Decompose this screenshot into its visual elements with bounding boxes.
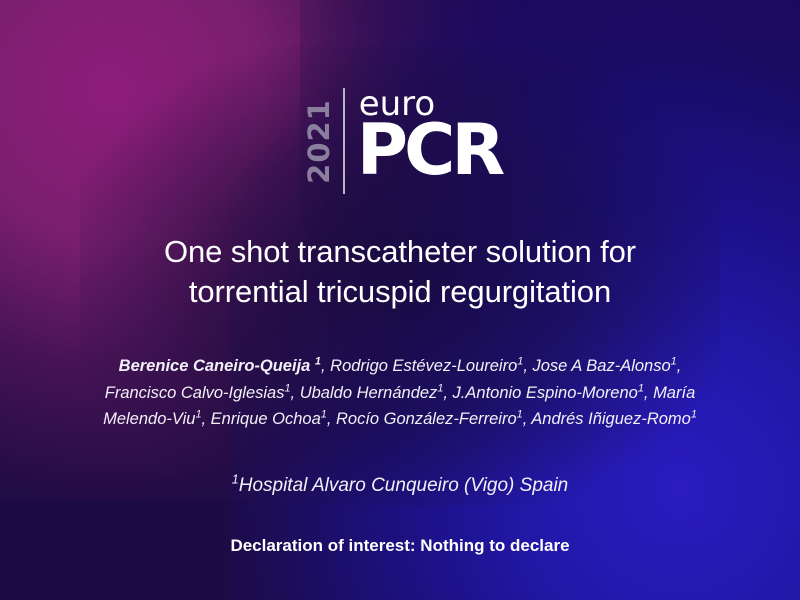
title-line-2: torrential tricuspid regurgitation	[60, 272, 740, 312]
logo-pcr-text: PCR	[357, 122, 502, 179]
author-name: J.Antonio Espino-Moreno	[453, 384, 638, 402]
author-name: Enrique Ochoa	[211, 410, 321, 428]
presenting-author-name: Berenice Caneiro-Queija	[119, 357, 311, 375]
logo-inner: 2021 euro PCR	[299, 86, 502, 196]
presenting-author: Berenice Caneiro-Queija 1	[119, 357, 321, 375]
logo-year: 2021	[299, 86, 341, 196]
author-separator: ,	[291, 384, 300, 402]
author-name: Andrés Iñiguez-Romo	[531, 410, 691, 428]
affiliation: 1Hospital Alvaro Cunqueiro (Vigo) Spain	[60, 474, 740, 499]
author-name: Rodrigo Estévez-Loureiro	[330, 357, 517, 375]
author-separator: ,	[644, 384, 653, 402]
author-separator: ,	[677, 357, 682, 375]
logo-divider	[343, 88, 345, 194]
europcr-logo: 2021 euro PCR	[0, 86, 800, 196]
author-affiliation-marker: 1	[691, 409, 697, 421]
declaration-of-interest: Declaration of interest: Nothing to decl…	[60, 535, 740, 557]
presentation-title: One shot transcatheter solution for torr…	[60, 232, 740, 313]
author-list: Berenice Caneiro-Queija 1, Rodrigo Estév…	[96, 353, 704, 433]
author-name: Jose A Baz-Alonso	[532, 357, 670, 375]
logo-wordmark: euro PCR	[357, 86, 502, 196]
author-separator: ,	[202, 410, 211, 428]
affiliation-marker: 1	[232, 473, 239, 487]
author-separator: ,	[443, 384, 452, 402]
affiliation-text: Hospital Alvaro Cunqueiro (Vigo) Spain	[239, 475, 569, 496]
title-slide: 2021 euro PCR One shot transcatheter sol…	[0, 0, 800, 600]
author-name: Ubaldo Hernández	[300, 384, 438, 402]
author-separator: ,	[327, 410, 336, 428]
title-line-1: One shot transcatheter solution for	[60, 232, 740, 272]
author-separator: ,	[523, 410, 532, 428]
slide-content: 2021 euro PCR One shot transcatheter sol…	[0, 0, 800, 600]
author-name: Rocío González-Ferreiro	[336, 410, 517, 428]
author-name: Francisco Calvo-Iglesias	[105, 384, 285, 402]
author-separator: ,	[321, 357, 330, 375]
logo-year-text: 2021	[305, 99, 334, 184]
